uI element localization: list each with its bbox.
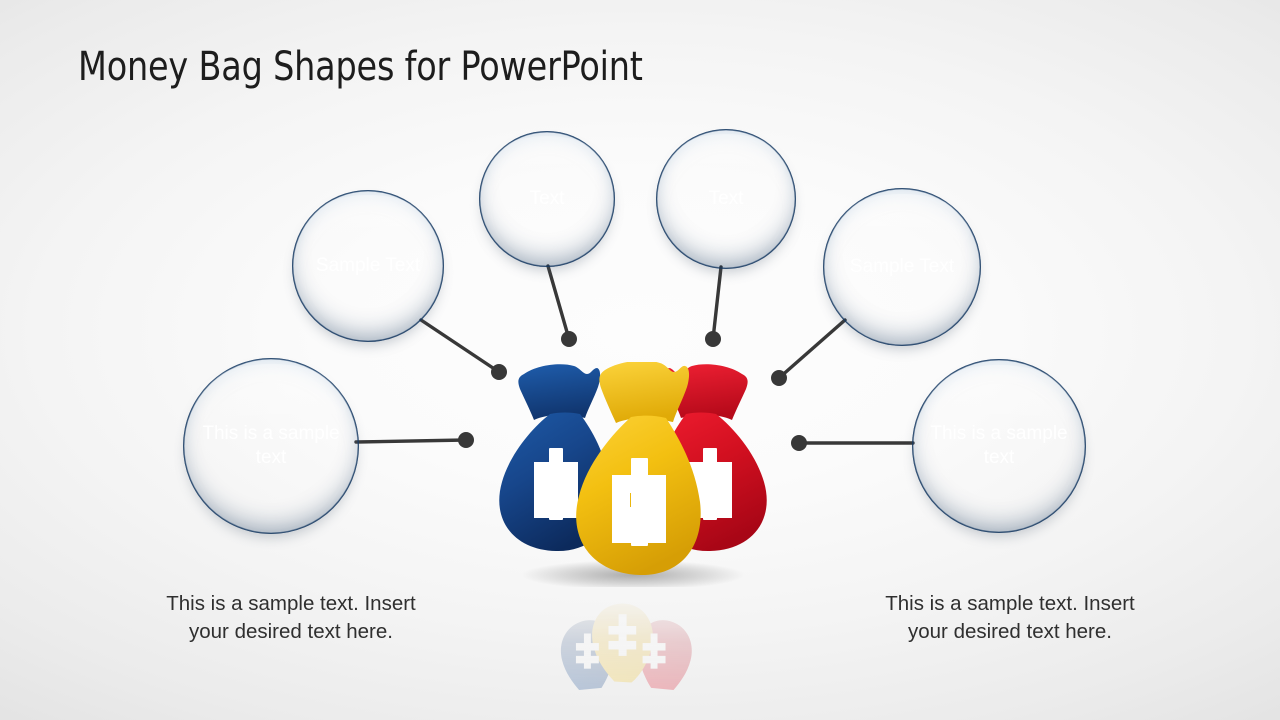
sphere-sample-text-long-right[interactable]: This is a sample text xyxy=(912,359,1086,533)
sphere-label: Sample Text xyxy=(834,255,970,279)
slide-canvas: Money Bag Shapes for PowerPoint xyxy=(0,0,1280,720)
connector-text-right-dot xyxy=(705,331,721,347)
money-bag-reflection xyxy=(488,586,778,706)
connector-sample-right xyxy=(779,320,845,378)
sphere-sample-text-left[interactable]: Sample Text xyxy=(292,190,444,342)
sphere-label: Sample Text xyxy=(301,254,436,278)
sphere-sample-text-right[interactable]: Sample Text xyxy=(823,188,981,346)
money-bag-group[interactable] xyxy=(488,362,778,587)
caption-right: This is a sample text. Insert your desir… xyxy=(815,590,1205,646)
connector-long-right-dot xyxy=(791,435,807,451)
connector-long-left-dot xyxy=(458,432,474,448)
sphere-sample-text-long-left[interactable]: This is a sample text xyxy=(183,358,359,534)
sphere-label: Text xyxy=(695,187,758,211)
sphere-label: This is a sample text xyxy=(183,422,359,470)
caption-left: This is a sample text. Insert your desir… xyxy=(96,590,486,646)
connector-text-right xyxy=(713,267,721,339)
connector-text-left-dot xyxy=(561,331,577,347)
sphere-text-right[interactable]: Text xyxy=(656,129,796,269)
sphere-text-left[interactable]: Text xyxy=(479,131,615,267)
connector-text-left xyxy=(548,266,569,339)
money-bag-svg xyxy=(488,362,778,587)
page-title: Money Bag Shapes for PowerPoint xyxy=(78,42,643,92)
sphere-label: This is a sample text xyxy=(912,422,1086,470)
sphere-label: Text xyxy=(516,187,578,211)
money-bag-reflection-svg xyxy=(488,586,778,706)
connector-long-left xyxy=(356,440,466,442)
